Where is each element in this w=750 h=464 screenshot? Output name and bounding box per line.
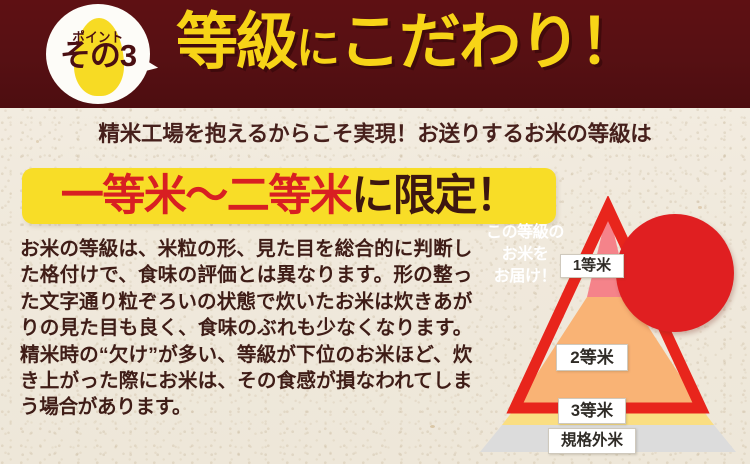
header-banner: ポイント その3 等級にこだわり！ (0, 0, 750, 108)
tier-label-4: 規格外米 (548, 428, 636, 454)
title-main-text: 等級 (176, 8, 296, 77)
delivery-callout-circle (616, 214, 734, 332)
tier-label-2: 2等米 (556, 344, 628, 371)
description-paragraph: お米の等級は、米粒の形、見た目を総合的に判断した格付けで、食味の評価とは異なりま… (20, 236, 472, 421)
title-particle-text: に (296, 24, 339, 73)
grade-pyramid-diagram: この等級の お米を お届け！ 1等米 2等米 3等米 規格外米 (466, 196, 750, 464)
promo-graphic: ポイント その3 等級にこだわり！ 精米工場を抱えるからこそ実現！お送りするお米… (0, 0, 750, 464)
tier-label-3: 3等米 (558, 398, 626, 424)
title-rest-text: こだわり！ (339, 8, 639, 77)
subtitle-text: 精米工場を抱えるからこそ実現！お送りするお米の等級は (0, 117, 750, 148)
point-badge: ポイント その3 (46, 4, 158, 106)
callout-line-1: この等級の (466, 222, 584, 244)
page-title: 等級にこだわり！ (176, 12, 639, 74)
banner-highlight-text: 一等米〜二等米 (61, 172, 352, 220)
tier-label-1: 1等米 (560, 254, 624, 278)
badge-number-label: その3 (46, 40, 150, 71)
